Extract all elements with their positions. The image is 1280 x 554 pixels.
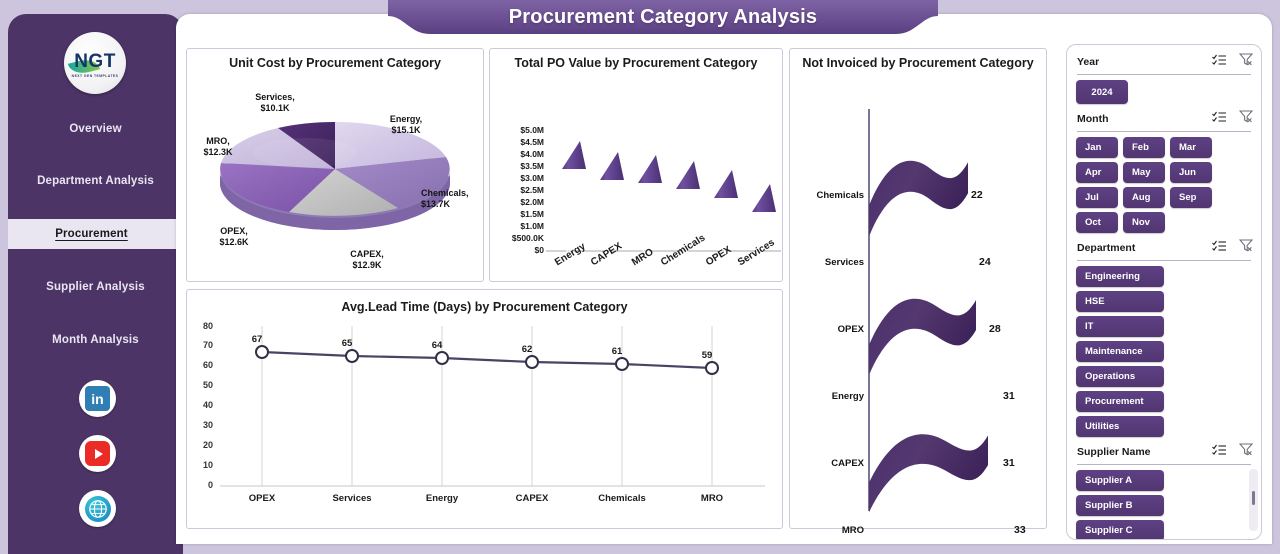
- ni-ytick-services: Services: [794, 257, 864, 268]
- chip-dept-hse[interactable]: HSE: [1076, 291, 1164, 312]
- filter-panel-scrollbar[interactable]: [1249, 469, 1258, 531]
- lead-time-line-chart: [220, 322, 780, 502]
- chart-title-lead-time: Avg.Lead Time (Days) by Procurement Cate…: [187, 290, 782, 316]
- lt-datalabel-energy: 64: [422, 340, 452, 351]
- slicer-options-month: Jan Feb Mar Apr May Jun Jul Aug Sep Oct …: [1073, 137, 1255, 237]
- lt-ytick-50: 50: [189, 380, 213, 390]
- chip-month-mar[interactable]: Mar: [1170, 137, 1212, 158]
- multi-select-icon[interactable]: [1212, 110, 1227, 128]
- chip-month-apr[interactable]: Apr: [1076, 162, 1118, 183]
- youtube-icon[interactable]: [79, 435, 116, 472]
- chip-month-oct[interactable]: Oct: [1076, 212, 1118, 233]
- sidebar-item-department-analysis[interactable]: Department Analysis: [8, 166, 183, 196]
- po-ytick-3.5m: $3.5M: [496, 161, 544, 171]
- slicer-title-year: Year: [1077, 56, 1099, 68]
- ni-datalabel-energy: 31: [1003, 390, 1015, 402]
- chip-dept-it[interactable]: IT: [1076, 316, 1164, 337]
- chip-dept-engineering[interactable]: Engineering: [1076, 266, 1164, 287]
- chip-month-nov[interactable]: Nov: [1123, 212, 1165, 233]
- scrollbar-thumb[interactable]: [1252, 491, 1255, 505]
- chip-month-jun[interactable]: Jun: [1170, 162, 1212, 183]
- ni-datalabel-opex: 28: [989, 323, 1001, 335]
- chip-supplier-b[interactable]: Supplier B: [1076, 495, 1164, 516]
- chart-title-unit-cost: Unit Cost by Procurement Category: [187, 49, 483, 72]
- slicer-title-supplier-name: Supplier Name: [1077, 446, 1151, 458]
- po-ytick-4.0m: $4.0M: [496, 149, 544, 159]
- lt-xtick-opex: OPEX: [237, 493, 287, 504]
- website-icon[interactable]: [79, 490, 116, 527]
- pie-label-chemicals: Chemicals,$13.7K: [421, 188, 483, 211]
- dashboard-root: NGT NEXT GEN TEMPLATES Overview Departme…: [0, 0, 1280, 554]
- sidebar-item-procurement[interactable]: Procurement: [8, 219, 183, 249]
- multi-select-icon[interactable]: [1212, 443, 1227, 461]
- lt-ytick-20: 20: [189, 440, 213, 450]
- chip-month-jan[interactable]: Jan: [1076, 137, 1118, 158]
- chip-dept-maintenance[interactable]: Maintenance: [1076, 341, 1164, 362]
- chip-supplier-c[interactable]: Supplier C: [1076, 520, 1164, 540]
- ni-ytick-chemicals: Chemicals: [794, 190, 864, 201]
- slicer-header-year: Year: [1073, 51, 1255, 72]
- lt-ytick-40: 40: [189, 400, 213, 410]
- app-logo: NGT NEXT GEN TEMPLATES: [64, 32, 126, 94]
- pie-label-services: Services,$10.1K: [242, 92, 308, 115]
- lt-datalabel-chemicals: 61: [602, 346, 632, 357]
- chip-year-2024[interactable]: 2024: [1076, 80, 1128, 104]
- slicer-divider-year: [1077, 74, 1251, 75]
- pie-label-opex: OPEX,$12.6K: [203, 226, 265, 249]
- lt-datalabel-services: 65: [332, 338, 362, 349]
- linkedin-icon[interactable]: in: [79, 380, 116, 417]
- pie-label-capex: CAPEX,$12.9K: [334, 249, 400, 272]
- lt-xtick-energy: Energy: [417, 493, 467, 504]
- po-ytick-4.5m: $4.5M: [496, 137, 544, 147]
- chip-month-jul[interactable]: Jul: [1076, 187, 1118, 208]
- lt-ytick-0: 0: [189, 480, 213, 490]
- po-ytick-0: $0: [496, 245, 544, 255]
- ni-datalabel-services: 24: [979, 256, 991, 268]
- ni-datalabel-capex: 31: [1003, 457, 1015, 469]
- chip-dept-operations[interactable]: Operations: [1076, 366, 1164, 387]
- multi-select-icon[interactable]: [1212, 239, 1227, 257]
- slicer-divider-month: [1077, 131, 1251, 132]
- clear-filter-icon[interactable]: [1239, 110, 1253, 128]
- ni-ytick-opex: OPEX: [794, 324, 864, 335]
- ni-ytick-mro: MRO: [794, 525, 864, 536]
- clear-filter-icon[interactable]: [1239, 53, 1253, 71]
- clear-filter-icon[interactable]: [1239, 239, 1253, 257]
- po-ytick-1.5m: $1.5M: [496, 209, 544, 219]
- slicer-options-supplier-name: Supplier A Supplier B Supplier C Supplie…: [1073, 470, 1255, 540]
- chip-month-may[interactable]: May: [1123, 162, 1165, 183]
- ni-ytick-capex: CAPEX: [794, 458, 864, 469]
- chip-dept-procurement[interactable]: Procurement: [1076, 391, 1164, 412]
- ni-datalabel-mro: 33: [1014, 524, 1026, 536]
- slicer-title-department: Department: [1077, 242, 1135, 254]
- logo-text: NGT: [74, 52, 116, 71]
- chart-card-po-value: Total PO Value by Procurement Category $…: [489, 48, 783, 282]
- chip-month-feb[interactable]: Feb: [1123, 137, 1165, 158]
- lt-ytick-70: 70: [189, 340, 213, 350]
- lt-ytick-80: 80: [189, 321, 213, 331]
- po-ytick-3.0m: $3.0M: [496, 173, 544, 183]
- slicer-divider-supplier-name: [1077, 464, 1251, 465]
- po-ytick-2.5m: $2.5M: [496, 185, 544, 195]
- ni-ytick-energy: Energy: [794, 391, 864, 402]
- lt-xtick-mro: MRO: [687, 493, 737, 504]
- lt-ytick-10: 10: [189, 460, 213, 470]
- po-ytick-2.0m: $2.0M: [496, 197, 544, 207]
- pie-label-energy: Energy,$15.1K: [372, 114, 440, 137]
- logo-subtitle: NEXT GEN TEMPLATES: [72, 74, 119, 78]
- sidebar-item-month-analysis[interactable]: Month Analysis: [8, 325, 183, 355]
- slicer-header-month: Month: [1073, 108, 1255, 129]
- po-ytick-500k: $500.0K: [490, 233, 544, 243]
- chip-dept-utilities[interactable]: Utilities: [1076, 416, 1164, 437]
- sidebar-item-overview[interactable]: Overview: [8, 114, 183, 144]
- chart-title-not-invoiced: Not Invoiced by Procurement Category: [790, 49, 1046, 72]
- chart-title-po-value: Total PO Value by Procurement Category: [490, 49, 782, 72]
- slicer-header-department: Department: [1073, 237, 1255, 258]
- page-title: Procurement Category Analysis: [388, 0, 938, 34]
- clear-filter-icon[interactable]: [1239, 443, 1253, 461]
- po-arrow-bars: [546, 94, 781, 254]
- lt-ytick-30: 30: [189, 420, 213, 430]
- ni-datalabel-chemicals: 22: [971, 189, 983, 201]
- chart-card-not-invoiced: Not Invoiced by Procurement Category Che…: [789, 48, 1047, 529]
- lt-xtick-chemicals: Chemicals: [597, 493, 647, 504]
- page-header-banner: Procurement Category Analysis: [388, 0, 938, 38]
- filter-panel: Year 2024 Month: [1066, 44, 1262, 540]
- not-invoiced-wave-bars: [790, 99, 1046, 519]
- lt-datalabel-opex: 67: [242, 334, 272, 345]
- slicer-divider-department: [1077, 260, 1251, 261]
- left-sidebar: NGT NEXT GEN TEMPLATES Overview Departme…: [8, 14, 183, 554]
- chart-card-unit-cost: Unit Cost by Procurement Category: [186, 48, 484, 282]
- lt-xtick-services: Services: [327, 493, 377, 504]
- lt-xtick-capex: CAPEX: [507, 493, 557, 504]
- slicer-options-department: Engineering HSE IT Maintenance Operation…: [1073, 266, 1255, 441]
- multi-select-icon[interactable]: [1212, 53, 1227, 71]
- sidebar-item-supplier-analysis[interactable]: Supplier Analysis: [8, 272, 183, 302]
- chip-month-aug[interactable]: Aug: [1123, 187, 1165, 208]
- lt-datalabel-capex: 62: [512, 344, 542, 355]
- slicer-options-year: 2024: [1073, 80, 1255, 108]
- chart-card-lead-time: Avg.Lead Time (Days) by Procurement Cate…: [186, 289, 783, 529]
- lt-ytick-60: 60: [189, 360, 213, 370]
- lt-datalabel-mro: 59: [692, 350, 722, 361]
- chip-supplier-a[interactable]: Supplier A: [1076, 470, 1164, 491]
- pie-label-mro: MRO,$12.3K: [189, 136, 247, 159]
- po-ytick-1.0m: $1.0M: [496, 221, 544, 231]
- slicer-header-supplier-name: Supplier Name: [1073, 441, 1255, 462]
- chip-month-sep[interactable]: Sep: [1170, 187, 1212, 208]
- po-ytick-5.0m: $5.0M: [496, 125, 544, 135]
- slicer-title-month: Month: [1077, 113, 1109, 125]
